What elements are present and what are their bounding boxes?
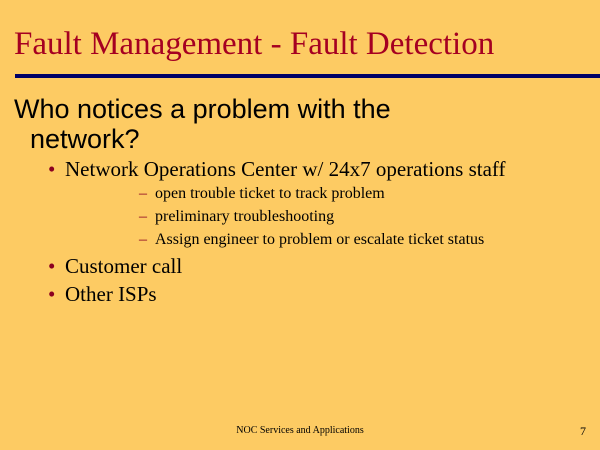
page-number: 7 [580, 423, 586, 439]
list-item-label: Customer call [65, 254, 182, 278]
dash-icon: – [139, 182, 147, 205]
list-item: • Customer call [0, 253, 600, 279]
sub-list-item: – Assign engineer to problem or escalate… [65, 228, 600, 251]
sub-list-item-label: open trouble ticket to track problem [155, 185, 385, 202]
sub-bullet-list: – open trouble ticket to track problem –… [65, 182, 600, 251]
title-divider-rule [15, 74, 600, 78]
body-heading-line-1: Who notices a problem with the [14, 94, 391, 124]
sub-list-item-label: Assign engineer to problem or escalate t… [155, 231, 484, 248]
bullet-dot-icon: • [48, 253, 55, 279]
slide-body: Who notices a problem with the network? … [0, 94, 600, 307]
list-item-label: Other ISPs [65, 282, 157, 306]
list-item: • Other ISPs [0, 281, 600, 307]
list-item-label: Network Operations Center w/ 24x7 operat… [65, 157, 506, 181]
sub-list-item-label: preliminary troubleshooting [155, 208, 334, 225]
bullet-list: • Network Operations Center w/ 24x7 oper… [0, 156, 600, 307]
slide: Fault Management - Fault Detection Who n… [0, 0, 600, 450]
body-heading-line-2: network? [14, 124, 600, 154]
sub-list-item: – open trouble ticket to track problem [65, 182, 600, 205]
list-item: • Network Operations Center w/ 24x7 oper… [0, 156, 600, 251]
page-title: Fault Management - Fault Detection [14, 24, 594, 64]
dash-icon: – [139, 228, 147, 251]
body-heading: Who notices a problem with the network? [0, 94, 600, 154]
bullet-dot-icon: • [48, 156, 55, 182]
sub-list-item: – preliminary troubleshooting [65, 205, 600, 228]
dash-icon: – [139, 205, 147, 228]
slide-footer: NOC Services and Applications [0, 424, 600, 438]
bullet-dot-icon: • [48, 281, 55, 307]
